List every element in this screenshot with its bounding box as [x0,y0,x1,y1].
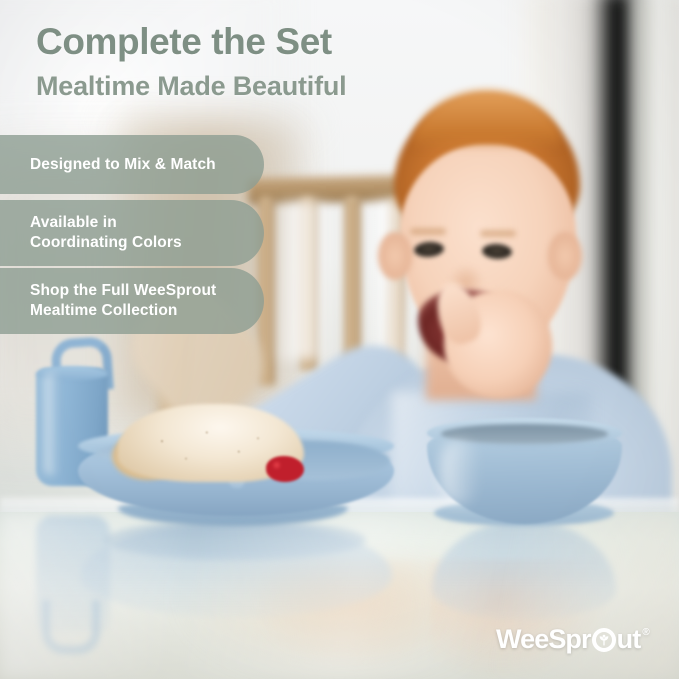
brand-name-part2: ut [617,626,641,653]
feature-pill-2: Available in Coordinating Colors [0,200,264,266]
feature-pill-1-label: Designed to Mix & Match [30,155,216,175]
bowl-highlight [440,440,480,504]
toddler-brow-left [410,228,446,235]
feature-pill-1: Designed to Mix & Match [0,135,264,194]
feature-pill-3: Shop the Full WeeSprout Mealtime Collect… [0,268,264,334]
toddler-brow-right [480,230,516,237]
cup-highlight [44,372,60,476]
brand-logo-text: WeeSpr ut [496,626,640,653]
page-title: Complete the Set [36,22,332,61]
toddler [352,92,679,452]
product-lifestyle-banner: Complete the Set Mealtime Made Beautiful… [0,0,679,679]
toddler-hair-top [412,90,562,150]
raspberry [266,456,304,482]
sprout-icon [592,628,616,652]
toddler-ear-left [378,232,412,280]
lifestyle-photo [0,0,679,679]
feature-pill-2-label: Available in Coordinating Colors [30,213,182,253]
brand-name-part1: WeeSpr [496,626,591,653]
trademark-symbol: ® [642,627,649,638]
page-subtitle: Mealtime Made Beautiful [36,72,346,102]
brand-logo: WeeSpr ut ® [496,626,650,653]
toddler-ear-right [548,232,582,280]
feature-pill-3-label: Shop the Full WeeSprout Mealtime Collect… [30,281,216,321]
